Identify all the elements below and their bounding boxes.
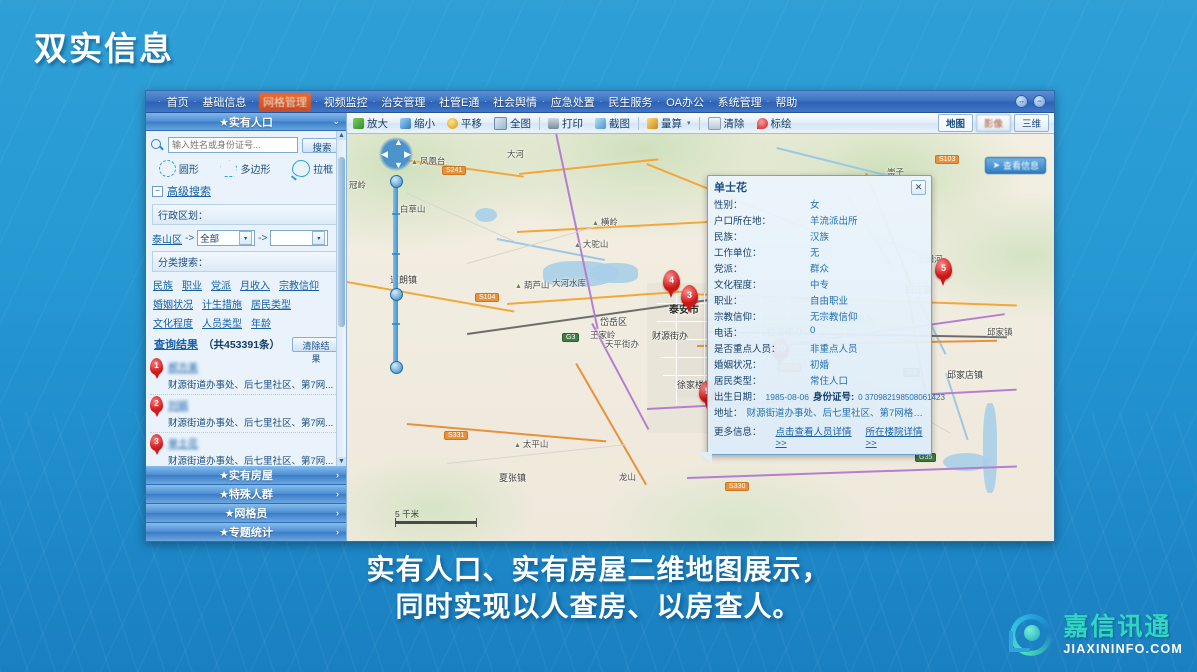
restore-icon[interactable]: ⇔ bbox=[1033, 95, 1046, 108]
result-item-header: 2刘娟 bbox=[150, 396, 342, 413]
popup-field-value-7: 无宗教信仰 bbox=[810, 309, 925, 323]
map-info-tip-label: 查看信息 bbox=[1003, 159, 1039, 172]
nav-item-2[interactable]: 网格管理 bbox=[259, 93, 311, 111]
popup-birth-value: 1985-08-06 bbox=[766, 392, 809, 402]
popup-field-label-0: 性别： bbox=[714, 197, 810, 211]
nav-separator-dot: · bbox=[251, 97, 254, 106]
toolbar-measure-label: 量算 bbox=[661, 116, 682, 131]
popup-birth-row: 出生日期： 1985-08-06 身份证号: 0 370982198508061… bbox=[714, 389, 925, 403]
route-shield-1: S103 bbox=[935, 155, 959, 164]
map-type-3d[interactable]: 三维 bbox=[1014, 114, 1049, 132]
map-pin-3[interactable]: 3 bbox=[681, 285, 698, 307]
draw-tools-row: 圆形 多边形 拉框 bbox=[146, 156, 346, 182]
popup-field-value-2: 汉族 bbox=[810, 229, 925, 243]
accordion-item-2[interactable]: ★网格员› bbox=[146, 504, 346, 523]
draw-tool-lasso-label: 拉框 bbox=[313, 161, 333, 176]
sidebar-accordion: ★实有房屋›★特殊人群›★网格员›★专题统计› bbox=[146, 466, 346, 542]
nav-item-9[interactable]: OA办公 bbox=[665, 94, 705, 110]
accordion-item-label: ★专题统计 bbox=[219, 524, 273, 540]
map-label-22: 龙山 bbox=[619, 471, 636, 483]
query-result-label[interactable]: 查询结果 bbox=[154, 336, 198, 352]
advanced-search-link[interactable]: 高级搜索 bbox=[167, 183, 211, 199]
toolbar-zoom-out-label: 缩小 bbox=[414, 116, 435, 131]
popup-field-label-10: 婚姻状况： bbox=[714, 357, 810, 371]
toolbar-separator bbox=[638, 117, 639, 130]
water-body bbox=[475, 208, 497, 222]
nav-item-3[interactable]: 视频监控 bbox=[323, 94, 369, 110]
slide-caption-line-1: 实有人口、实有房屋二维地图展示， bbox=[0, 552, 1197, 589]
popup-field-label-3: 工作单位： bbox=[714, 245, 810, 259]
water-body bbox=[983, 403, 997, 493]
region-select-1[interactable]: 全部 ▾ bbox=[197, 230, 255, 246]
toolbar-full-extent[interactable]: 全图 bbox=[488, 116, 537, 131]
search-input[interactable] bbox=[168, 137, 298, 153]
popup-field-label-8: 电话： bbox=[714, 325, 810, 339]
zoom-slider-tick bbox=[392, 323, 400, 325]
map-canvas[interactable]: 凤凰台白草山大河冠岭横岭大驼山道朗镇葫芦山大河水库岱岳区王家岭泰安市财源街办岱庙… bbox=[347, 133, 1054, 542]
toolbar-clear[interactable]: 清除 bbox=[702, 116, 751, 131]
nav-separator-dot: · bbox=[194, 97, 197, 106]
accordion-item-label: ★特殊人群 bbox=[219, 486, 273, 502]
nav-separator-dot: · bbox=[600, 97, 603, 106]
nav-item-5[interactable]: 社管E通 bbox=[438, 94, 480, 110]
map-label-2: 大河 bbox=[507, 148, 524, 160]
sidebar-scrollbar[interactable]: ▲ ▼ bbox=[336, 131, 346, 466]
category-link-2[interactable]: 党派 bbox=[211, 277, 231, 292]
map-label-20: 太平山 bbox=[514, 438, 548, 450]
region-select-1-value: 全部 bbox=[200, 231, 237, 245]
search-row: 搜索 bbox=[146, 131, 346, 156]
minimize-icon[interactable]: ↔ bbox=[1015, 95, 1028, 108]
page-title: 双实信息 bbox=[34, 22, 174, 70]
toolbar-print-label: 打印 bbox=[562, 116, 583, 131]
map-label-18: 邱家店镇 bbox=[947, 368, 983, 381]
result-item-address: 财源街道办事处、后七里社区、第7网... bbox=[150, 375, 342, 392]
toolbar-screenshot-label: 截图 bbox=[609, 116, 630, 131]
nav-item-8[interactable]: 民生服务 bbox=[607, 94, 653, 110]
popup-field-value-1: 羊流派出所 bbox=[810, 213, 925, 227]
water-body bbox=[590, 263, 638, 283]
search-icon bbox=[150, 138, 164, 152]
toolbar-zoom-in-label: 放大 bbox=[367, 116, 388, 131]
map-label-8: 大河水库 bbox=[552, 277, 586, 289]
popup-field-value-9: 非重点人员 bbox=[810, 341, 925, 355]
map-label-0: 凤凰台 bbox=[411, 155, 445, 167]
nav-item-7[interactable]: 应急处置 bbox=[550, 94, 596, 110]
draw-tool-circle-label: 圆形 bbox=[179, 161, 199, 176]
popup-address-label: 地址： bbox=[714, 405, 743, 419]
section-region-label: 行政区划： bbox=[152, 204, 340, 225]
result-pin-icon: 3 bbox=[150, 434, 163, 451]
list-item[interactable]: 3单士花财源街道办事处、后七里社区、第7网... bbox=[150, 433, 342, 466]
section-category-label: 分类搜索： bbox=[152, 251, 340, 272]
map-label-5: 大驼山 bbox=[574, 238, 608, 250]
popup-field-value-11: 常住人口 bbox=[810, 373, 925, 387]
popup-more-row: 更多信息： 点击查看人员详情>> 所在楼院详情>> bbox=[714, 424, 925, 449]
draw-tool-polygon[interactable]: 多边形 bbox=[220, 160, 270, 177]
popup-field-label-4: 党派： bbox=[714, 261, 810, 275]
popup-address-value: 财源街道办事处、后七里社区、第7网格、1... bbox=[747, 405, 925, 419]
window-controls: ↔ ⇔ bbox=[1015, 95, 1046, 108]
cursor-icon: ➤ bbox=[992, 160, 1000, 171]
person-info-popup: 单士花 ✕ 性别：女户口所在地：羊流派出所民族：汉族工作单位：无党派：群众文化程… bbox=[707, 175, 932, 455]
nav-separator-dot: · bbox=[315, 97, 318, 106]
category-link-4[interactable]: 宗教信仰 bbox=[279, 277, 319, 292]
map-label-24: 邱家镇 bbox=[987, 326, 1013, 338]
popup-person-name: 单士花 bbox=[714, 179, 747, 195]
panel-header-real-population[interactable]: ★实有人口 ⌄ bbox=[146, 113, 346, 131]
top-nav-menu: ·首页·基础信息·网格管理·视频监控·治安管理·社管E通·社会舆情·应急处置·民… bbox=[146, 93, 798, 111]
result-pin-icon: 1 bbox=[150, 358, 163, 375]
result-item-name[interactable]: 刘娟 bbox=[168, 397, 188, 412]
popup-field-label-5: 文化程度： bbox=[714, 277, 810, 291]
category-link-5[interactable]: 婚姻状况 bbox=[153, 296, 193, 311]
category-link-3[interactable]: 月收入 bbox=[240, 277, 270, 292]
popup-field-value-4: 群众 bbox=[810, 261, 925, 275]
map-label-23: 天平街办 bbox=[605, 338, 639, 350]
zoom-slider-tick bbox=[392, 213, 400, 215]
popup-birth-label: 出生日期： bbox=[714, 389, 762, 403]
zoom-in-icon bbox=[353, 118, 364, 129]
toolbar-clear-label: 清除 bbox=[724, 116, 745, 131]
category-link-7[interactable]: 居民类型 bbox=[251, 296, 291, 311]
route-shield-0: S241 bbox=[442, 166, 466, 175]
route-shield-5: S330 bbox=[725, 482, 749, 491]
map-scale-bar: 5 千米 bbox=[395, 508, 477, 524]
pan-up-icon[interactable]: ▲ bbox=[394, 138, 403, 147]
result-item-address: 财源街道办事处、后七里社区、第7网... bbox=[150, 451, 342, 466]
draw-tool-lasso[interactable]: 拉框 bbox=[292, 160, 333, 177]
map-label-4: 横岭 bbox=[592, 216, 618, 228]
popup-field-label-6: 职业： bbox=[714, 293, 810, 307]
map-panel: 放大 缩小 平移 全图 打印 bbox=[347, 113, 1054, 542]
map-zoom-slider[interactable] bbox=[390, 173, 401, 373]
route-shield-3: S331 bbox=[444, 431, 468, 440]
map-info-tip-button[interactable]: ➤ 查看信息 bbox=[985, 157, 1046, 174]
zoom-slider-top-knob[interactable] bbox=[390, 175, 403, 188]
map-type-imagery[interactable]: 影像 bbox=[976, 114, 1011, 132]
nav-separator-dot: · bbox=[158, 97, 161, 106]
map-type-switcher: 地图 影像 三维 bbox=[938, 114, 1049, 132]
result-item-address: 财源街道办事处、后七里社区、第7网... bbox=[150, 413, 342, 430]
nav-separator-dot: · bbox=[484, 97, 487, 106]
category-link-8[interactable]: 文化程度 bbox=[153, 315, 193, 330]
result-header-row: 查询结果 （共453391条） 清除结果 bbox=[146, 332, 346, 356]
pan-right-icon[interactable]: ▶ bbox=[404, 150, 411, 159]
left-sidebar: ★实有人口 ⌄ 搜索 圆形 多边形 bbox=[146, 113, 347, 542]
region-select-2[interactable]: ▾ bbox=[270, 230, 328, 246]
toolbar-full-extent-label: 全图 bbox=[510, 116, 531, 131]
chevron-down-icon[interactable]: ▾ bbox=[239, 231, 252, 245]
nav-item-0[interactable]: 首页 bbox=[166, 94, 190, 110]
panel-header-label: ★实有人口 bbox=[219, 114, 273, 130]
result-pin-icon: 2 bbox=[150, 396, 163, 413]
chevron-down-icon[interactable]: ⌄ bbox=[332, 116, 340, 127]
application-window: ·首页·基础信息·网格管理·视频监控·治安管理·社管E通·社会舆情·应急处置·民… bbox=[145, 90, 1055, 542]
region-filter-row: 泰山区 -> 全部 ▾ -> ▾ bbox=[146, 225, 346, 249]
lasso-select-icon bbox=[292, 160, 310, 177]
toolbar-pan-label: 平移 bbox=[461, 116, 482, 131]
advanced-search-toggle-row: − 高级搜索 bbox=[146, 182, 346, 202]
popup-field-value-5: 中专 bbox=[810, 277, 925, 291]
toolbar-zoom-out[interactable]: 缩小 bbox=[394, 116, 441, 131]
map-label-3: 冠岭 bbox=[349, 179, 366, 191]
map-label-12: 财源街办 bbox=[652, 329, 688, 342]
popup-field-grid: 性别：女户口所在地：羊流派出所民族：汉族工作单位：无党派：群众文化程度：中专职业… bbox=[714, 197, 925, 387]
popup-building-detail-link[interactable]: 所在楼院详情>> bbox=[866, 424, 925, 449]
brand-logo: 嘉信讯通 JIAXININFO.COM bbox=[1008, 612, 1183, 658]
chevron-down-icon[interactable]: ▾ bbox=[312, 231, 325, 245]
category-link-9[interactable]: 人员类型 bbox=[202, 315, 242, 330]
toolbar-marker-label: 标绘 bbox=[771, 116, 792, 131]
zoom-slider-track[interactable] bbox=[393, 183, 398, 363]
popup-field-label-2: 民族： bbox=[714, 229, 810, 243]
measure-icon bbox=[647, 118, 658, 129]
popup-field-value-0: 女 bbox=[810, 197, 925, 211]
nav-separator-dot: · bbox=[767, 97, 770, 106]
pan-down-icon[interactable]: ▼ bbox=[394, 161, 403, 170]
circle-select-icon bbox=[159, 160, 176, 177]
popup-field-value-6: 自由职业 bbox=[810, 293, 925, 307]
popup-field-label-1: 户口所在地： bbox=[714, 213, 810, 227]
popup-field-value-3: 无 bbox=[810, 245, 925, 259]
accordion-item-1[interactable]: ★特殊人群› bbox=[146, 485, 346, 504]
category-link-1[interactable]: 职业 bbox=[182, 277, 202, 292]
chevron-right-icon[interactable]: › bbox=[336, 527, 339, 537]
zoom-out-icon bbox=[400, 118, 411, 129]
nav-separator-dot: · bbox=[542, 97, 545, 106]
route-shield-8: S104 bbox=[475, 293, 499, 302]
full-extent-icon bbox=[494, 117, 507, 130]
expand-collapse-icon[interactable]: − bbox=[152, 186, 163, 197]
toolbar-screenshot[interactable]: 截图 bbox=[589, 116, 636, 131]
popup-header: 单士花 ✕ bbox=[708, 176, 931, 196]
toolbar-separator bbox=[539, 117, 540, 130]
zoom-slider-handle[interactable] bbox=[390, 288, 403, 301]
accordion-item-label: ★网格员 bbox=[225, 505, 268, 521]
popup-address-row: 地址： 财源街道办事处、后七里社区、第7网格、1... bbox=[714, 405, 925, 419]
pan-left-icon[interactable]: ◀ bbox=[381, 150, 388, 159]
logo-icon bbox=[1008, 612, 1054, 658]
popup-field-label-11: 居民类型： bbox=[714, 373, 810, 387]
region-arrow-2: -> bbox=[258, 233, 267, 244]
result-item-name[interactable]: 郝方美 bbox=[168, 359, 198, 374]
map-type-map[interactable]: 地图 bbox=[938, 114, 973, 132]
nav-separator-dot: · bbox=[430, 97, 433, 106]
chevron-right-icon[interactable]: › bbox=[336, 470, 339, 480]
accordion-item-3[interactable]: ★专题统计› bbox=[146, 523, 346, 542]
popup-person-detail-link[interactable]: 点击查看人员详情>> bbox=[776, 424, 852, 449]
chevron-right-icon[interactable]: › bbox=[336, 489, 339, 499]
zoom-slider-tick bbox=[392, 253, 400, 255]
map-label-9: 岱岳区 bbox=[600, 315, 627, 328]
map-pin-4[interactable]: 4 bbox=[663, 270, 680, 292]
chevron-right-icon[interactable]: › bbox=[336, 508, 339, 518]
category-links: 民族职业党派月收入宗教信仰婚姻状况计生措施居民类型文化程度人员类型年龄 bbox=[146, 272, 346, 332]
list-item[interactable]: 2刘娟财源街道办事处、后七里社区、第7网... bbox=[150, 395, 342, 433]
route-shield-2: G3 bbox=[562, 333, 579, 342]
clear-icon bbox=[708, 117, 721, 130]
polygon-select-icon bbox=[220, 160, 237, 177]
close-icon[interactable]: ✕ bbox=[911, 180, 926, 195]
toolbar-zoom-in[interactable]: 放大 bbox=[347, 116, 394, 131]
popup-field-value-10: 初婚 bbox=[810, 357, 925, 371]
popup-field-label-7: 宗教信仰： bbox=[714, 309, 810, 323]
popup-field-value-8: 0 bbox=[810, 325, 925, 339]
nav-item-4[interactable]: 治安管理 bbox=[380, 94, 426, 110]
top-navigation-bar: ·首页·基础信息·网格管理·视频监控·治安管理·社管E通·社会舆情·应急处置·民… bbox=[146, 91, 1054, 113]
map-label-21: 夏张镇 bbox=[499, 471, 526, 484]
popup-field-label-9: 是否重点人员： bbox=[714, 341, 810, 355]
map-pin-5[interactable]: 5 bbox=[935, 258, 952, 280]
pan-icon bbox=[447, 118, 458, 129]
region-root-label[interactable]: 泰山区 bbox=[152, 231, 182, 246]
screenshot-icon bbox=[595, 118, 606, 129]
clear-results-button[interactable]: 清除结果 bbox=[292, 337, 340, 352]
scrollbar-thumb[interactable] bbox=[338, 157, 345, 327]
map-label-7: 葫芦山 bbox=[515, 279, 549, 291]
toolbar-separator bbox=[699, 117, 700, 130]
toolbar-measure[interactable]: 量算 ▾ bbox=[641, 116, 697, 131]
region-arrow-1: -> bbox=[185, 233, 194, 244]
category-link-10[interactable]: 年龄 bbox=[251, 315, 271, 330]
map-scale-label: 5 千米 bbox=[395, 509, 419, 519]
result-item-header: 3单士花 bbox=[150, 434, 342, 451]
accordion-item-0[interactable]: ★实有房屋› bbox=[146, 466, 346, 485]
nav-item-1[interactable]: 基础信息 bbox=[201, 94, 247, 110]
print-icon bbox=[548, 118, 559, 129]
scale-bar-line bbox=[395, 521, 477, 524]
sidebar-scroll-region: 搜索 圆形 多边形 拉框 bbox=[146, 131, 346, 466]
category-link-0[interactable]: 民族 bbox=[153, 277, 173, 292]
map-toolbar: 放大 缩小 平移 全图 打印 bbox=[347, 113, 1054, 134]
logo-name-cn: 嘉信讯通 bbox=[1063, 615, 1183, 640]
application-body: ★实有人口 ⌄ 搜索 圆形 多边形 bbox=[146, 113, 1054, 542]
nav-separator-dot: · bbox=[709, 97, 712, 106]
logo-name-en: JIAXININFO.COM bbox=[1063, 643, 1183, 656]
zoom-slider-bottom-knob[interactable] bbox=[390, 361, 403, 374]
nav-separator-dot: · bbox=[373, 97, 376, 106]
scroll-up-icon[interactable]: ▲ bbox=[337, 131, 346, 140]
nav-item-10[interactable]: 系统管理 bbox=[717, 94, 763, 110]
marker-icon bbox=[757, 118, 768, 129]
popup-id-value: 0 370982198508061423 bbox=[858, 393, 945, 402]
nav-item-11[interactable]: 帮助 bbox=[774, 94, 798, 110]
nav-separator-dot: · bbox=[657, 97, 660, 106]
accordion-item-label: ★实有房屋 bbox=[219, 467, 273, 483]
map-pan-control[interactable]: ▲ ◀ ▶ ▼ bbox=[379, 137, 413, 171]
popup-more-label: 更多信息： bbox=[714, 424, 762, 438]
result-item-name[interactable]: 单士花 bbox=[168, 435, 198, 450]
popup-body: 性别：女户口所在地：羊流派出所民族：汉族工作单位：无党派：群众文化程度：中专职业… bbox=[708, 196, 931, 454]
toolbar-print[interactable]: 打印 bbox=[542, 116, 589, 131]
toolbar-marker[interactable]: 标绘 bbox=[751, 116, 798, 131]
toolbar-pan[interactable]: 平移 bbox=[441, 116, 488, 131]
draw-tool-circle[interactable]: 圆形 bbox=[159, 160, 199, 177]
chevron-down-icon[interactable]: ▾ bbox=[687, 119, 691, 127]
scroll-down-icon[interactable]: ▼ bbox=[337, 457, 346, 466]
logo-text: 嘉信讯通 JIAXININFO.COM bbox=[1063, 615, 1183, 656]
nav-item-6[interactable]: 社会舆情 bbox=[492, 94, 538, 110]
query-result-count: （共453391条） bbox=[203, 337, 280, 352]
result-list: 1郝方美财源街道办事处、后七里社区、第7网...2刘娟财源街道办事处、后七里社区… bbox=[146, 356, 346, 466]
popup-id-label: 身份证号: bbox=[813, 389, 854, 403]
category-link-6[interactable]: 计生措施 bbox=[202, 296, 242, 311]
draw-tool-polygon-label: 多边形 bbox=[240, 161, 270, 176]
